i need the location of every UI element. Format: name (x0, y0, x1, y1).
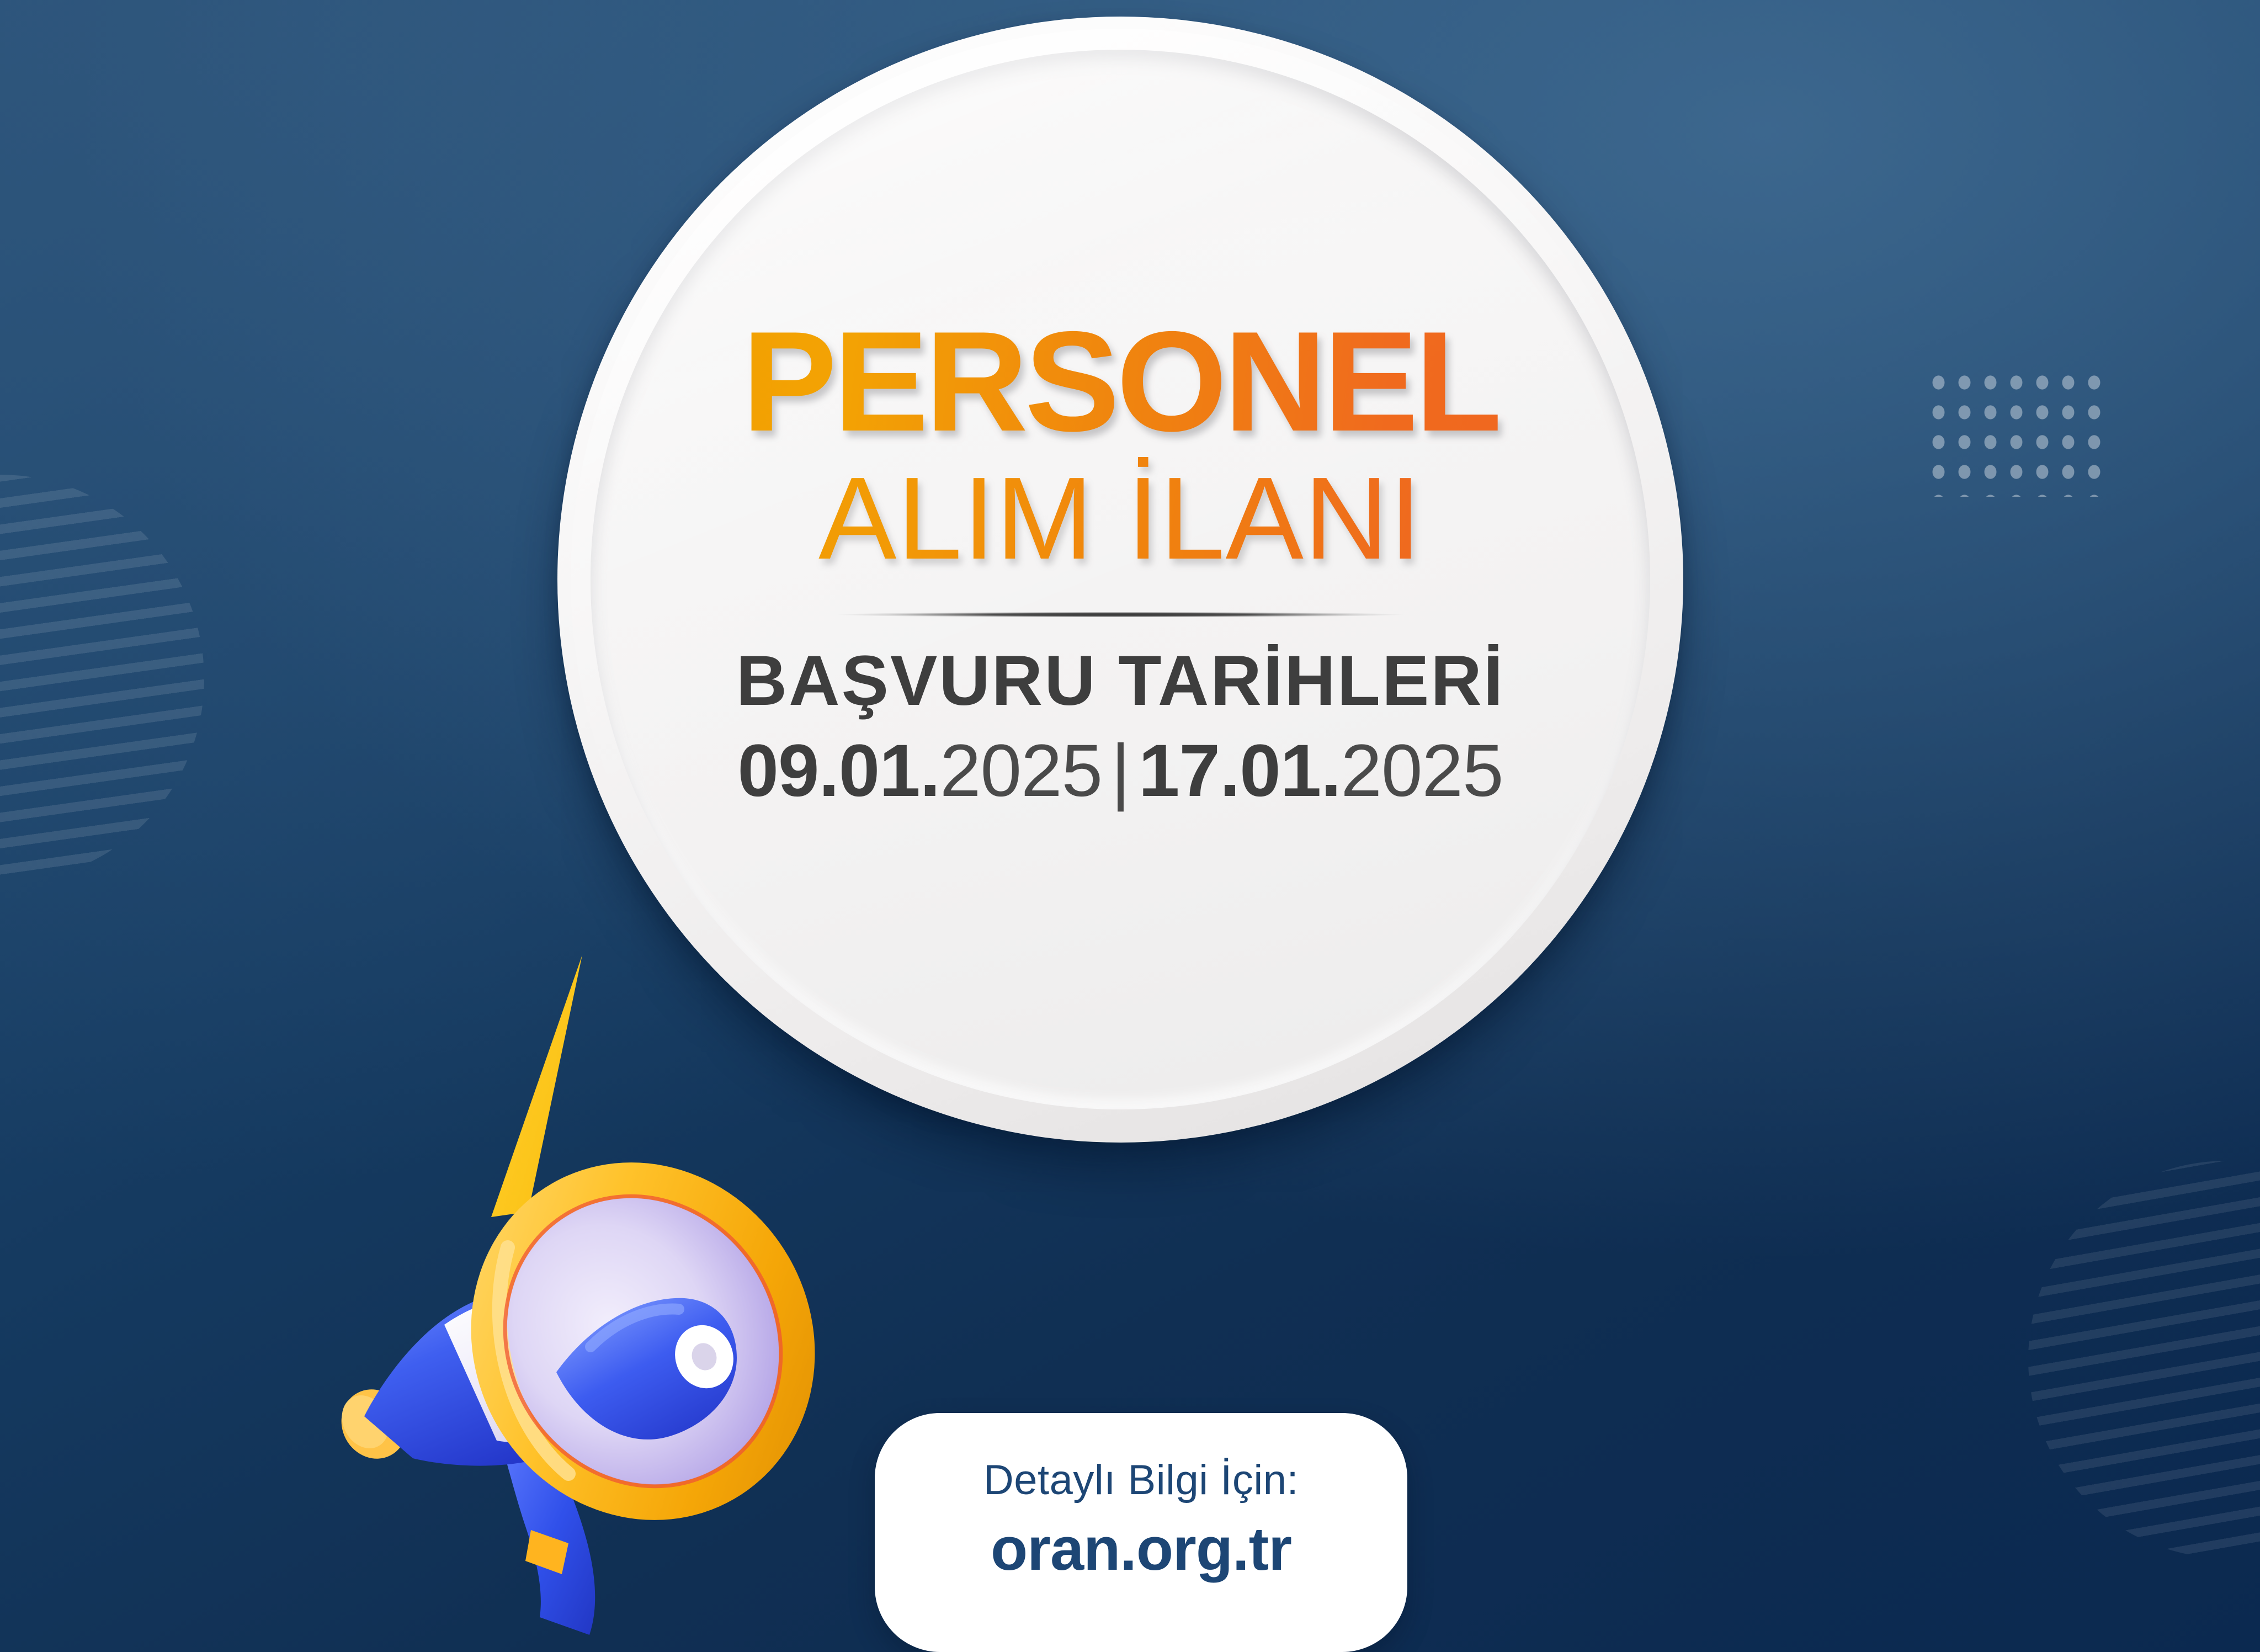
subtitle-application-dates-label: BAŞVURU TARİHLERİ (640, 642, 1600, 720)
application-dates-range: 09.01.2025|17.01.2025 (640, 730, 1600, 811)
dot-grid-decoration (1923, 364, 2105, 497)
page-title-primary: PERSONEL (640, 315, 1600, 449)
date-end-year: 2025 (1341, 730, 1503, 812)
poster-canvas: PERSONEL ALIM İLANI BAŞVURU TARİHLERİ 09… (0, 0, 2260, 1652)
striped-circle-right-decoration (2028, 1161, 2260, 1558)
date-start-year: 2025 (940, 730, 1102, 812)
cta-label: Detaylı Bilgi İçin: (983, 1457, 1299, 1504)
page-title-secondary: ALIM İLANI (640, 455, 1600, 582)
cta-url-link[interactable]: oran.org.tr (991, 1516, 1291, 1582)
date-end-day-month: 17.01. (1139, 730, 1341, 812)
date-start-day-month: 09.01. (737, 730, 940, 812)
cta-info-pill[interactable]: Detaylı Bilgi İçin: oran.org.tr (875, 1413, 1407, 1652)
striped-circle-left-decoration (0, 475, 204, 883)
divider (836, 612, 1405, 617)
bubble-content: PERSONEL ALIM İLANI BAŞVURU TARİHLERİ 09… (640, 315, 1600, 812)
date-separator: | (1102, 730, 1139, 812)
